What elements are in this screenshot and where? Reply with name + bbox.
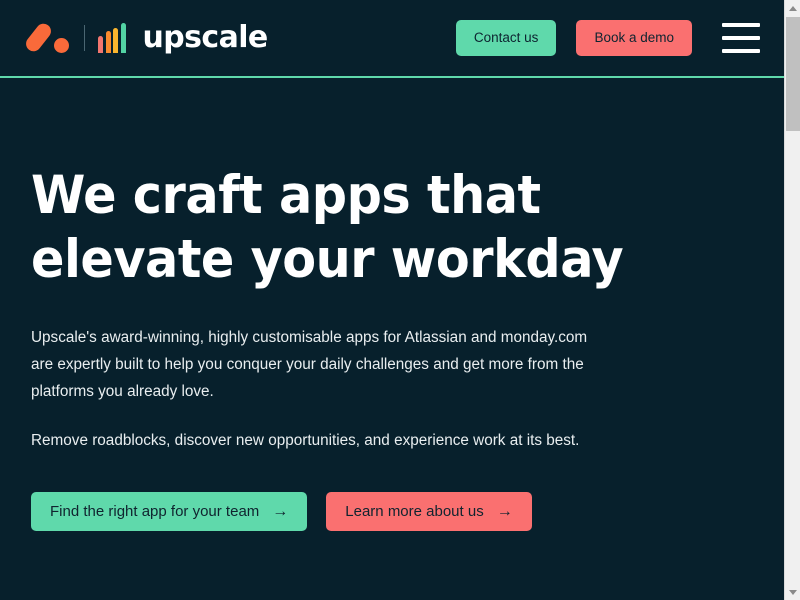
hamburger-menu-icon[interactable] bbox=[722, 23, 760, 53]
hamburger-line-2 bbox=[722, 36, 760, 40]
scroll-up-arrow-icon bbox=[789, 6, 797, 11]
bar-3 bbox=[113, 28, 118, 53]
hamburger-line-3 bbox=[722, 49, 760, 53]
bar-1 bbox=[98, 36, 103, 53]
brand-wordmark: upscale bbox=[143, 23, 268, 53]
upscale-molecule-icon bbox=[31, 21, 73, 55]
arrow-right-icon: → bbox=[272, 504, 288, 520]
bar-2 bbox=[106, 31, 111, 53]
page-title: We craft apps that elevate your workday bbox=[31, 164, 682, 292]
molecule-pill-shape bbox=[23, 21, 54, 55]
cta-secondary-label: Learn more about us bbox=[345, 503, 483, 520]
book-a-demo-button[interactable]: Book a demo bbox=[576, 20, 692, 56]
browser-viewport: upscale Contact us Book a demo We craft … bbox=[0, 0, 800, 600]
header-actions: Contact us Book a demo bbox=[456, 20, 760, 56]
site-header: upscale Contact us Book a demo bbox=[0, 0, 784, 78]
cta-primary-label: Find the right app for your team bbox=[50, 503, 259, 520]
hero-paragraph-1: Upscale's award-winning, highly customis… bbox=[31, 325, 591, 405]
scroll-up-button[interactable] bbox=[785, 0, 800, 16]
scroll-down-arrow-icon bbox=[789, 590, 797, 595]
site-logo[interactable]: upscale bbox=[31, 21, 268, 55]
hero-section: We craft apps that elevate your workday … bbox=[0, 164, 784, 531]
hero-cta-row: Find the right app for your team → Learn… bbox=[31, 492, 753, 531]
arrow-right-icon: → bbox=[497, 504, 513, 520]
hero-paragraph-2: Remove roadblocks, discover new opportun… bbox=[31, 428, 591, 455]
find-the-right-app-button[interactable]: Find the right app for your team → bbox=[31, 492, 307, 531]
molecule-dot-shape bbox=[54, 38, 69, 53]
learn-more-about-us-button[interactable]: Learn more about us → bbox=[326, 492, 531, 531]
logo-divider bbox=[84, 25, 85, 51]
hamburger-line-1 bbox=[722, 23, 760, 27]
bar-4 bbox=[121, 23, 126, 53]
page-canvas: upscale Contact us Book a demo We craft … bbox=[0, 0, 784, 600]
upscale-bars-icon bbox=[98, 23, 126, 53]
vertical-scrollbar[interactable] bbox=[784, 0, 800, 600]
contact-us-button[interactable]: Contact us bbox=[456, 20, 557, 56]
scroll-down-button[interactable] bbox=[785, 584, 800, 600]
scroll-thumb[interactable] bbox=[786, 17, 800, 131]
